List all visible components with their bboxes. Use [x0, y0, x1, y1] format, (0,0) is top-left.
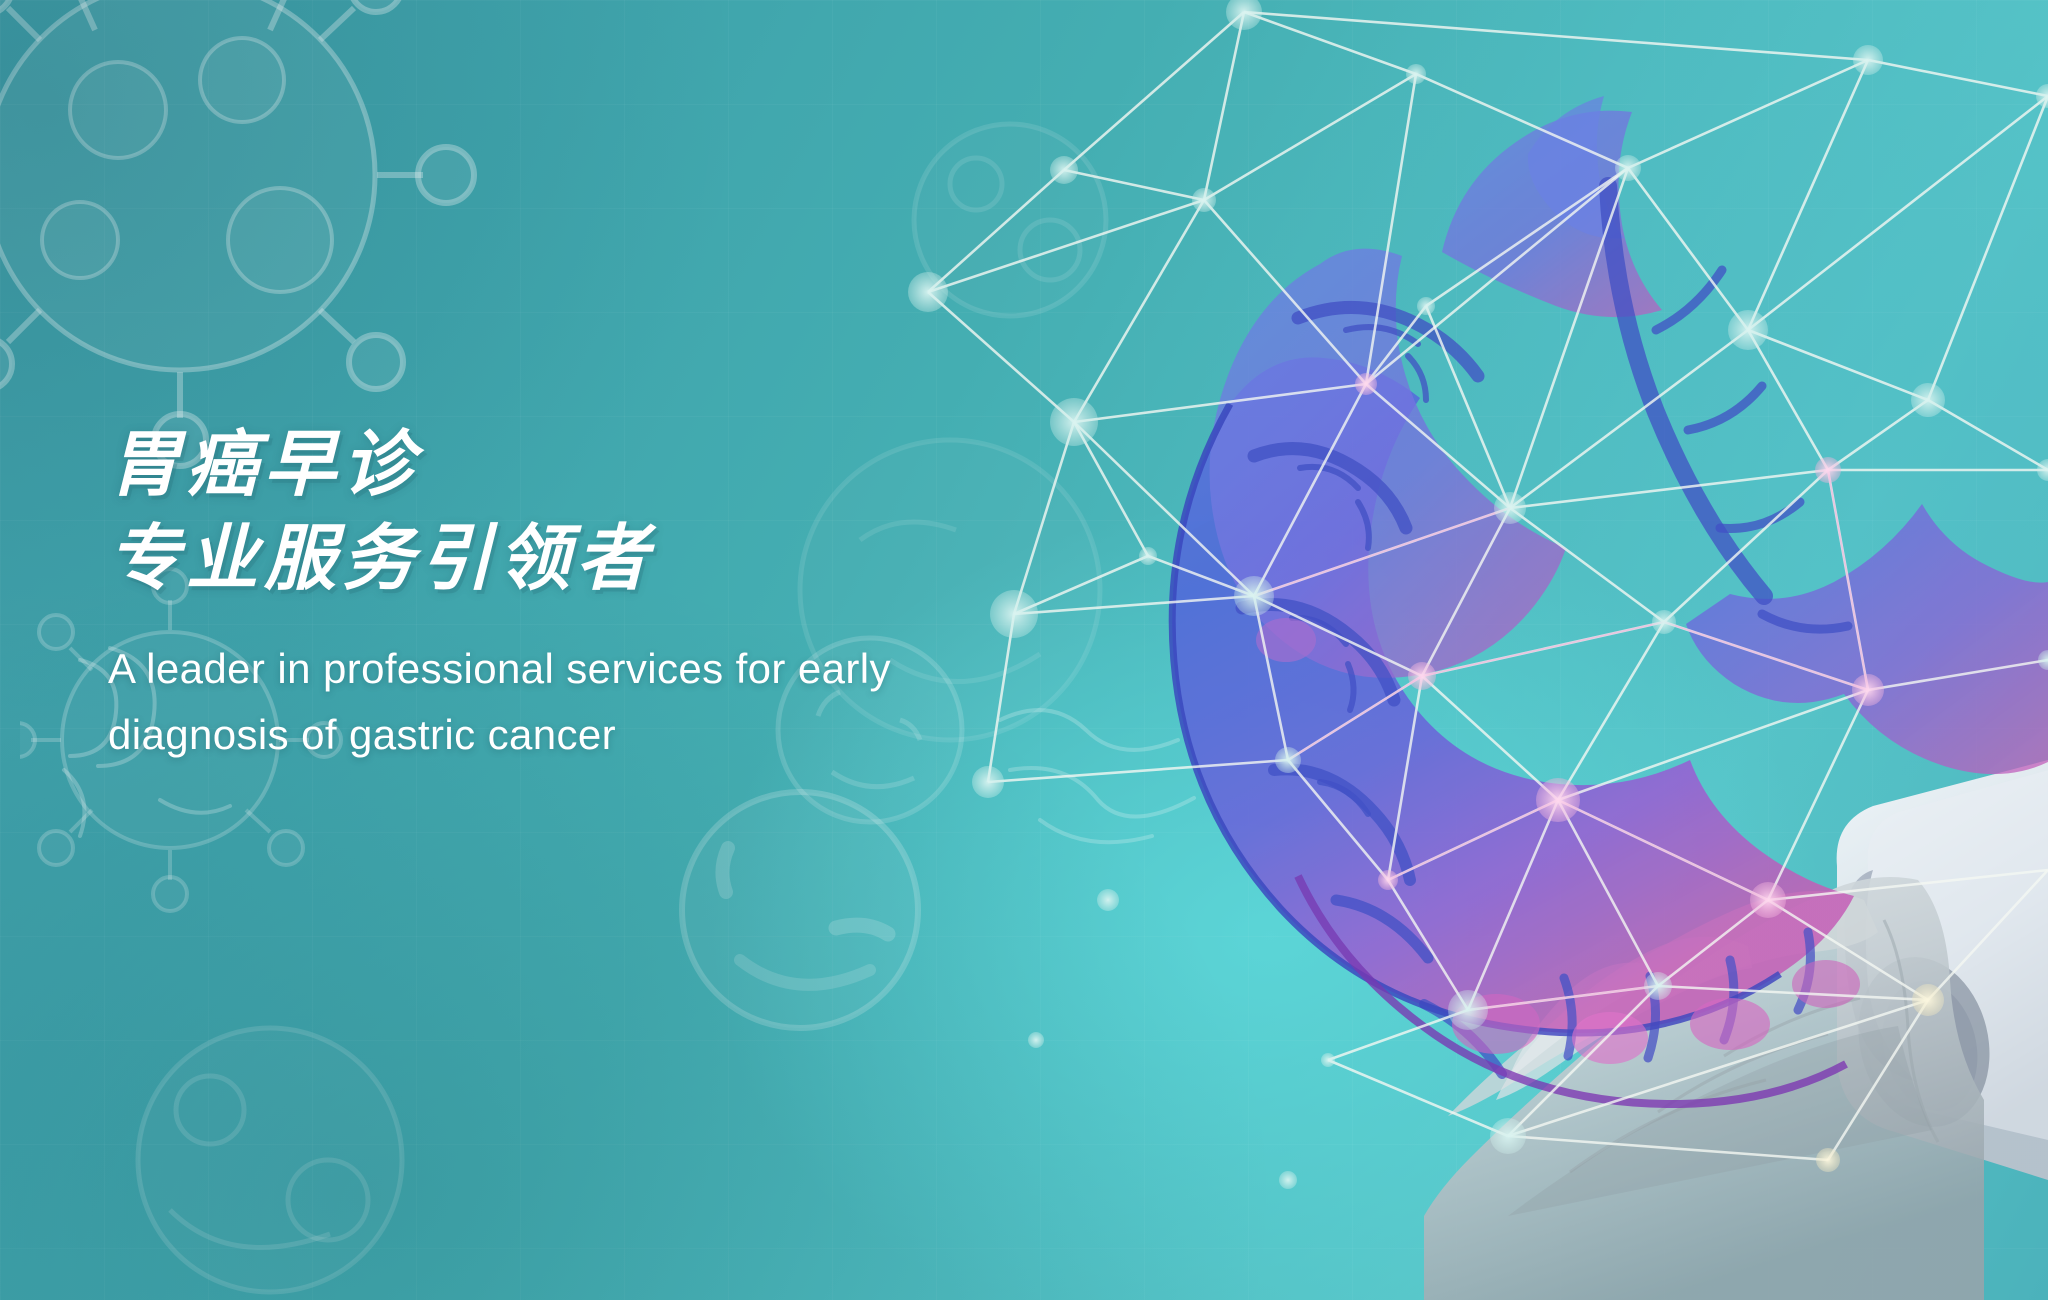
subtitle-line-2: diagnosis of gastric cancer: [108, 702, 1108, 768]
stomach-illustration: [1172, 96, 2048, 1104]
page-title: 胃癌早诊 专业服务引领者: [108, 418, 1108, 606]
cell-watermark-bottom-left: [60, 980, 460, 1300]
open-hand-holding-organ: [1424, 877, 1984, 1300]
headline-line-2: 专业服务引领者: [108, 512, 1108, 606]
page-subtitle: A leader in professional services for ea…: [108, 636, 1108, 768]
headline-line-1: 胃癌早诊: [108, 425, 420, 505]
marketing-banner: 胃癌早诊 专业服务引领者 A leader in professional se…: [0, 0, 2048, 1300]
cell-watermark-top-center: [860, 80, 1160, 360]
cell-watermark-bubble: [600, 760, 960, 1060]
copy-block: 胃癌早诊 专业服务引领者 A leader in professional se…: [108, 418, 1108, 768]
lab-coat-sleeve: [1837, 760, 2048, 1180]
subtitle-line-1: A leader in professional services for ea…: [108, 645, 891, 692]
coronavirus-watermark-top-left: [0, 0, 580, 470]
network-accent-edges: [1254, 470, 1868, 1010]
